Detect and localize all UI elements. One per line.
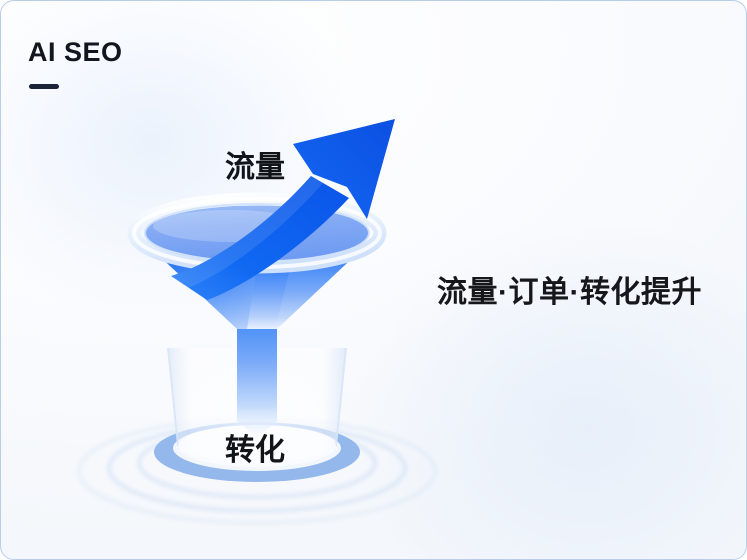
label-traffic: 流量	[225, 153, 285, 183]
page-title: AI SEO	[28, 39, 123, 66]
headline-text: 流量·订单·转化提升	[437, 278, 702, 308]
funnel-stem	[237, 324, 277, 438]
title-accent-bar	[29, 84, 59, 89]
poster-canvas: AI SEO 流量·订单·转化提升	[0, 0, 747, 560]
label-conversion: 转化	[225, 436, 285, 466]
